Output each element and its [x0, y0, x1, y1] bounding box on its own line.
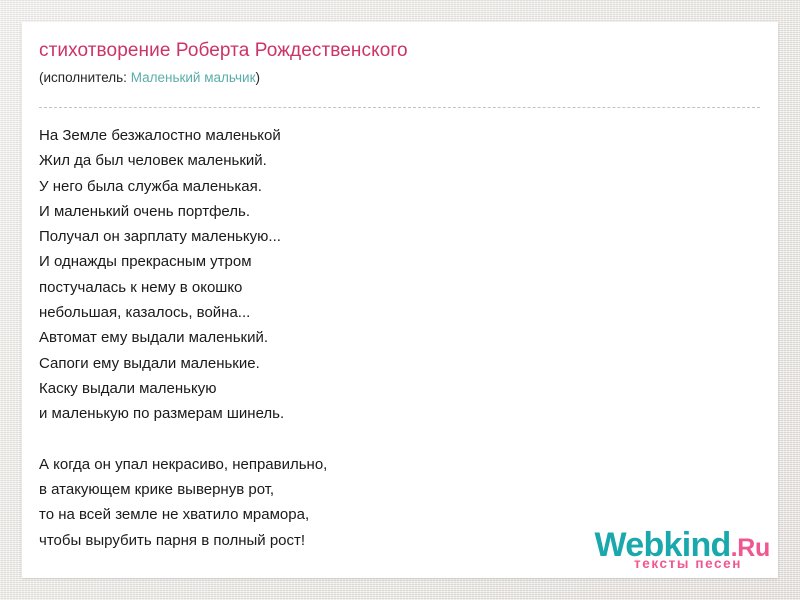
- page-title: стихотворение Роберта Рождественского: [39, 38, 778, 64]
- lyric-line: Автомат ему выдали маленький.: [39, 325, 327, 350]
- lyric-line: Получал он зарплату маленькую...: [39, 224, 327, 249]
- lyrics-text: На Земле безжалостно маленькойЖил да был…: [39, 123, 327, 553]
- lyric-line: И однажды прекрасным утром: [39, 249, 327, 274]
- lyric-line: У него была служба маленькая.: [39, 174, 327, 199]
- page-frame: стихотворение Роберта Рождественского (и…: [0, 0, 800, 600]
- lyric-line: то на всей земле не хватило мрамора,: [39, 502, 327, 527]
- performer-link[interactable]: Маленький мальчик: [131, 70, 256, 85]
- lyric-line: постучалась к нему в окошко: [39, 275, 327, 300]
- site-logo[interactable]: Webkind.Ru тексты песен: [594, 528, 770, 572]
- header-divider: [39, 107, 760, 108]
- lyric-line: И маленький очень портфель.: [39, 199, 327, 224]
- performer-suffix: ): [256, 70, 261, 85]
- lyric-line: На Земле безжалостно маленькой: [39, 123, 327, 148]
- lyric-line: небольшая, казалось, война...: [39, 300, 327, 325]
- lyric-line-blank: [39, 427, 327, 452]
- page-content: стихотворение Роберта Рождественского (и…: [39, 38, 778, 578]
- lyrics-page-sheet: стихотворение Роберта Рождественского (и…: [22, 22, 778, 578]
- lyric-line: в атакующем крике вывернув рот,: [39, 477, 327, 502]
- lyric-line: и маленькую по размерам шинель.: [39, 401, 327, 426]
- lyric-line: Каску выдали маленькую: [39, 376, 327, 401]
- lyric-line: Жил да был человек маленький.: [39, 148, 327, 173]
- performer-label: (исполнитель:: [39, 70, 127, 85]
- lyric-line: чтобы вырубить парня в полный рост!: [39, 528, 327, 553]
- performer-line: (исполнитель: Маленький мальчик): [39, 68, 778, 88]
- lyric-line: Сапоги ему выдали маленькие.: [39, 351, 327, 376]
- lyric-line: А когда он упал некрасиво, неправильно,: [39, 452, 327, 477]
